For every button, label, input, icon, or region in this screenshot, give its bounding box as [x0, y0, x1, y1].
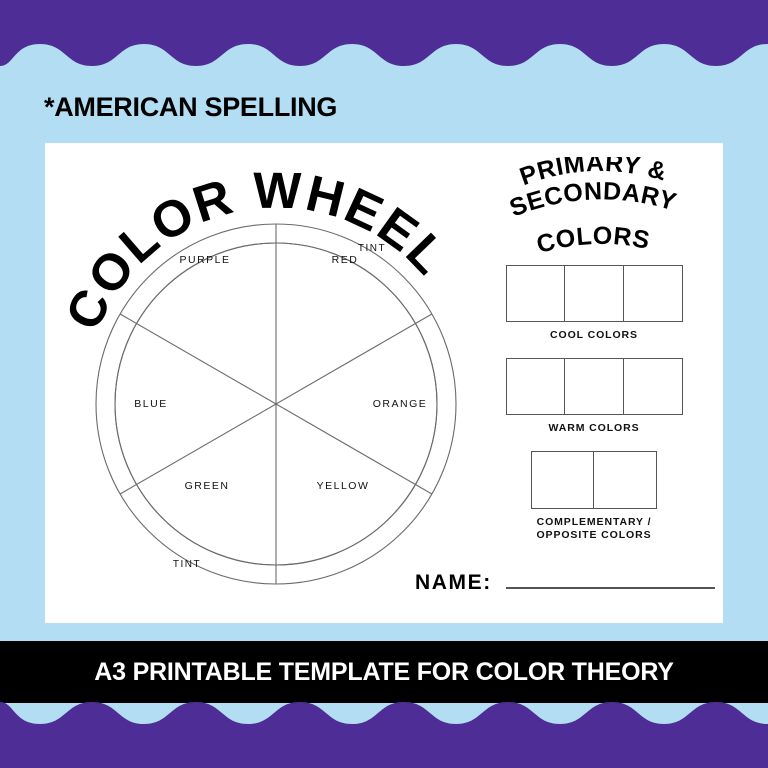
- swatch-box-cool-2[interactable]: [565, 265, 624, 322]
- swatch-label-cool: COOL COLORS: [465, 329, 723, 342]
- wheel-segment-label-blue: BLUE: [134, 398, 167, 410]
- swatch-box-cool-3[interactable]: [624, 265, 683, 322]
- swatch-box-complementary-2[interactable]: [594, 451, 657, 509]
- swatch-box-cool-1[interactable]: [506, 265, 565, 322]
- swatch-group-cool: COOL COLORS: [465, 265, 723, 342]
- swatch-label-complementary: COMPLEMENTARY / OPPOSITE COLORS: [465, 516, 723, 542]
- top-wave-decoration: [0, 0, 768, 70]
- swatch-group-warm: WARM COLORS: [465, 358, 723, 435]
- poster-canvas: *AMERICAN SPELLING: [0, 0, 768, 768]
- wheel-segment-label-purple: PURPLE: [179, 254, 230, 266]
- name-field: NAME:: [415, 571, 715, 595]
- bottom-banner: A3 PRINTABLE TEMPLATE FOR COLOR THEORY: [0, 641, 768, 703]
- wheel-segment-label-red: RED: [332, 254, 359, 266]
- swatch-row-cool: [465, 265, 723, 322]
- primary-secondary-panel: PRIMARY & SECONDARY COLORS COOL: [465, 143, 723, 623]
- bottom-banner-text: A3 PRINTABLE TEMPLATE FOR COLOR THEORY: [94, 658, 673, 687]
- wheel-segment-label-green: GREEN: [185, 480, 230, 492]
- swatch-box-complementary-1[interactable]: [531, 451, 594, 509]
- panel-title: PRIMARY & SECONDARY COLORS: [465, 157, 723, 262]
- wheel-segment-label-yellow: YELLOW: [317, 480, 370, 492]
- swatch-box-warm-1[interactable]: [506, 358, 565, 415]
- swatch-group-complementary: COMPLEMENTARY / OPPOSITE COLORS: [465, 451, 723, 542]
- swatch-label-complementary-line-1: COMPLEMENTARY /: [465, 516, 723, 529]
- panel-title-line-3: COLORS: [534, 222, 652, 259]
- american-spelling-note: *AMERICAN SPELLING: [44, 92, 337, 123]
- color-wheel-area: COLOR WHEEL PURPLE RED BLUE ORANGE GREEN…: [45, 143, 465, 623]
- swatch-box-warm-3[interactable]: [624, 358, 683, 415]
- swatch-row-complementary: [465, 451, 723, 509]
- wheel-ring-label-tint-lower: TINT: [173, 559, 201, 570]
- swatch-label-complementary-line-2: OPPOSITE COLORS: [465, 529, 723, 542]
- swatch-label-warm: WARM COLORS: [465, 422, 723, 435]
- name-field-label: NAME:: [415, 571, 492, 595]
- wheel-title-text: COLOR WHEEL: [54, 162, 459, 338]
- wheel-segment-label-orange: ORANGE: [373, 398, 428, 410]
- wheel-ring-label-tint-upper: TINT: [358, 243, 386, 254]
- worksheet-card: COLOR WHEEL PURPLE RED BLUE ORANGE GREEN…: [45, 143, 723, 623]
- swatch-row-warm: [465, 358, 723, 415]
- wheel-title: COLOR WHEEL: [54, 162, 459, 338]
- name-field-input-line[interactable]: [506, 587, 715, 589]
- swatch-box-warm-2[interactable]: [565, 358, 624, 415]
